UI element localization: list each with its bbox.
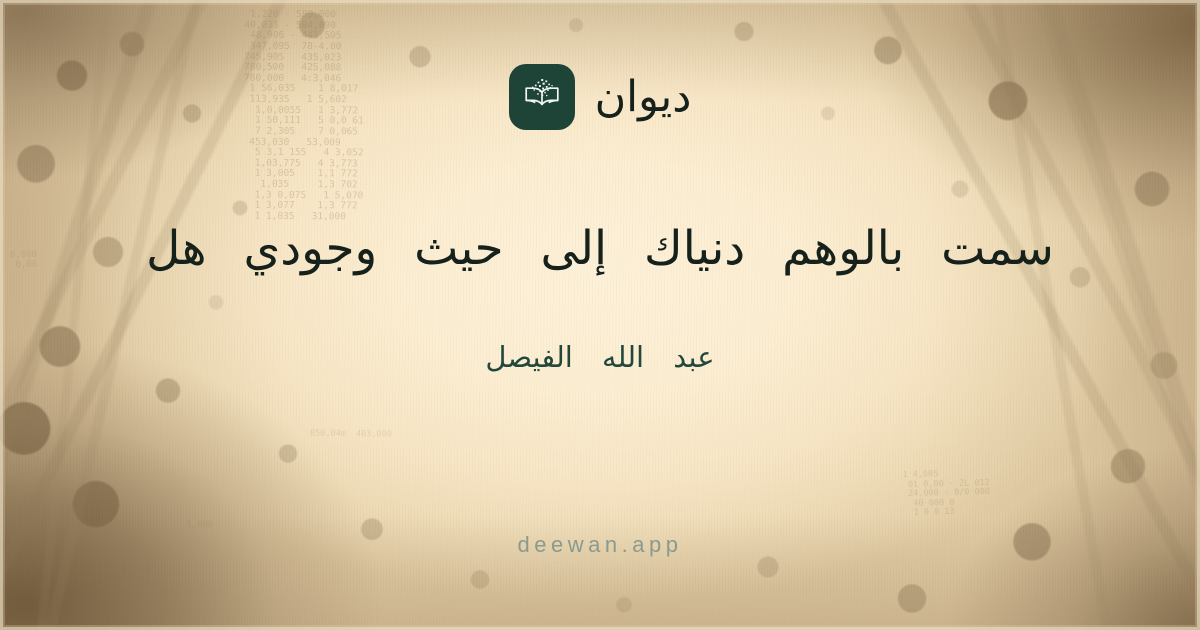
- open-book-sparkles-icon: [509, 64, 575, 130]
- card-content: ديوان سمت بالوهم دنياك إلى حيث وجودي هل …: [0, 0, 1200, 630]
- quote-card: 1,220 - 589,000 40,033 - 504,090 48,906 …: [0, 0, 1200, 630]
- brand-name: ديوان: [595, 76, 692, 119]
- brand-lockup: ديوان: [509, 64, 692, 130]
- verse-text: سمت بالوهم دنياك إلى حيث وجودي هل: [95, 218, 1105, 280]
- author-name: عبد الله الفيصل: [485, 340, 714, 374]
